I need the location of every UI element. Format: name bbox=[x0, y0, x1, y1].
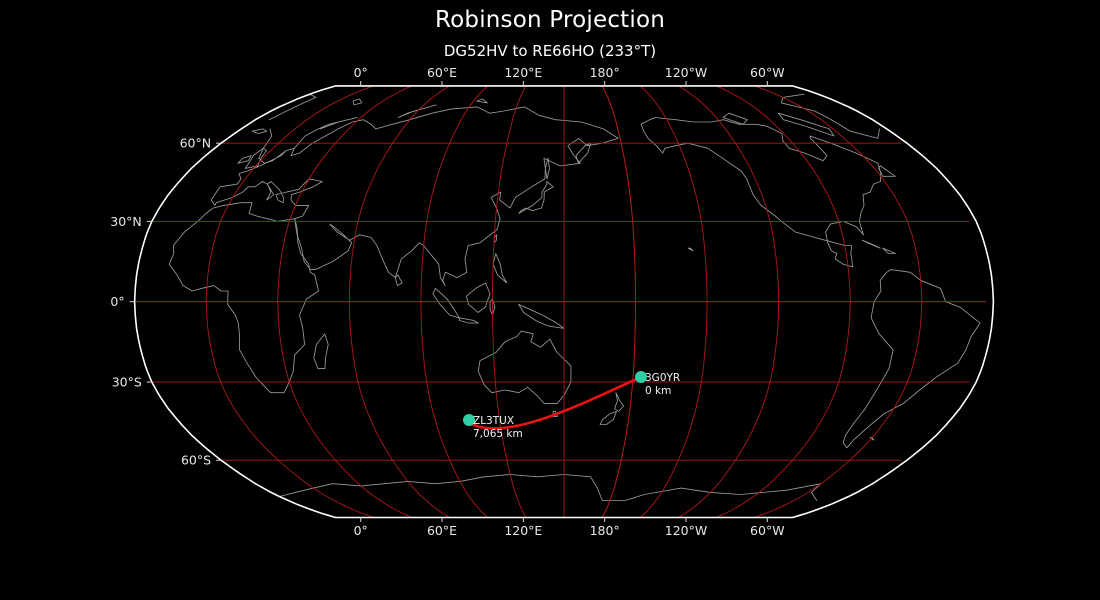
coastline bbox=[433, 288, 459, 318]
coastline bbox=[883, 248, 896, 253]
coastline bbox=[395, 275, 402, 286]
x-tick-label: 60°W bbox=[750, 65, 785, 80]
y-tick-label: 30°N bbox=[110, 214, 142, 229]
coastline bbox=[211, 107, 618, 286]
coastline bbox=[782, 94, 880, 138]
coastline bbox=[252, 129, 266, 134]
coastlines-layer bbox=[169, 94, 980, 500]
coastline bbox=[493, 254, 507, 284]
coastline bbox=[600, 411, 616, 424]
coastline bbox=[519, 304, 564, 328]
coastline bbox=[353, 99, 362, 105]
coastline bbox=[519, 182, 554, 214]
coastline bbox=[477, 99, 488, 103]
coastline bbox=[478, 331, 571, 403]
coastline bbox=[862, 240, 880, 248]
x-tick-label: 0° bbox=[354, 65, 368, 80]
map-figure: Robinson Projection DG52HV to RE66HO (23… bbox=[0, 0, 1100, 600]
y-tick-label: 0° bbox=[110, 294, 124, 309]
station-distance-label: 7,065 km bbox=[473, 428, 523, 440]
x-tick-label: 60°E bbox=[427, 65, 457, 80]
coastline bbox=[459, 318, 478, 323]
x-tick-label: 180° bbox=[590, 65, 620, 80]
x-tick-label: 60°E bbox=[427, 523, 457, 538]
robinson-projection-map[interactable]: 60°E60°E120°E120°E180°180°120°W120°W60°W… bbox=[0, 0, 1100, 600]
coastline bbox=[466, 283, 490, 312]
station-callsign-label: 3G0YR bbox=[645, 372, 680, 384]
x-tick-label: 0° bbox=[354, 523, 368, 538]
coastline bbox=[843, 270, 980, 448]
x-tick-label: 120°W bbox=[665, 65, 707, 80]
x-tick-label: 120°E bbox=[504, 523, 542, 538]
y-tick-label: 30°S bbox=[112, 374, 142, 389]
coastline bbox=[545, 158, 549, 179]
x-tick-label: 120°E bbox=[504, 65, 542, 80]
station-callsign-label: ZL3TUX bbox=[473, 415, 514, 427]
coastline-paths bbox=[169, 94, 980, 500]
y-tick-label: 60°N bbox=[180, 136, 212, 151]
coastline bbox=[279, 475, 821, 501]
y-tick-label: 60°S bbox=[181, 453, 211, 468]
x-tick-label: 180° bbox=[590, 523, 620, 538]
coastline bbox=[314, 334, 328, 369]
coastline bbox=[811, 484, 821, 501]
x-tick-label: 120°W bbox=[665, 523, 707, 538]
coastline bbox=[723, 113, 747, 124]
coastline bbox=[688, 248, 693, 251]
coastline bbox=[615, 393, 624, 412]
coastline bbox=[879, 166, 896, 176]
coastline bbox=[269, 94, 316, 120]
station-distance-label: 0 km bbox=[645, 385, 671, 397]
x-tick-label: 60°W bbox=[750, 523, 785, 538]
